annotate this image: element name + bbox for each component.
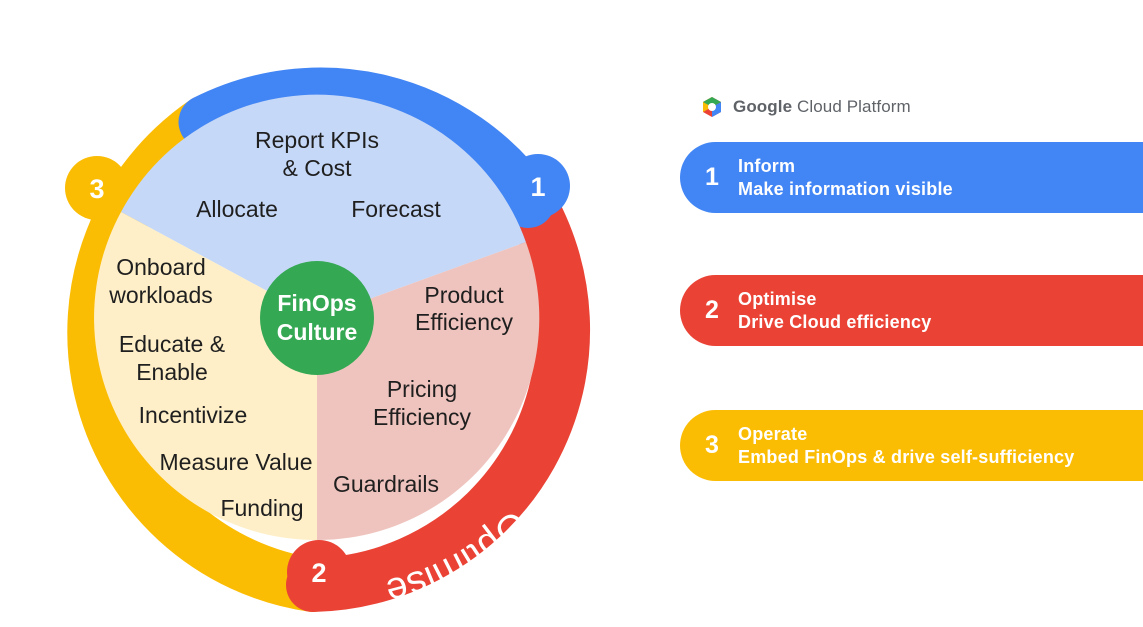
legend-card-3-text: Operate Embed FinOps & drive self-suffic… bbox=[738, 424, 1074, 468]
optimise-item-product-efficiency-line1: Product bbox=[424, 282, 504, 308]
optimise-item-guardrails: Guardrails bbox=[333, 471, 439, 497]
ring-label-inform: Inform bbox=[264, 29, 389, 79]
legend-card-operate[interactable]: 3 Operate Embed FinOps & drive self-suff… bbox=[680, 410, 1143, 481]
legend-card-1-number: 1 bbox=[680, 163, 738, 192]
badge-2[interactable]: 2 bbox=[287, 540, 351, 604]
badge-3-label: 3 bbox=[89, 174, 104, 204]
badge-1[interactable]: 1 bbox=[506, 154, 570, 218]
optimise-item-pricing-efficiency-line2: Efficiency bbox=[373, 404, 472, 430]
legend-card-2-subtitle: Drive Cloud efficiency bbox=[738, 312, 931, 333]
legend-card-inform[interactable]: 1 Inform Make information visible bbox=[680, 142, 1143, 213]
center-label-line2: Culture bbox=[277, 319, 358, 345]
brand-lockup: Google Cloud Platform bbox=[700, 95, 911, 119]
legend-card-3-number: 3 bbox=[680, 431, 738, 460]
legend-card-2-text: Optimise Drive Cloud efficiency bbox=[738, 289, 931, 333]
operate-item-onboard-line1: Onboard bbox=[116, 254, 206, 280]
legend-card-optimise[interactable]: 2 Optimise Drive Cloud efficiency bbox=[680, 275, 1143, 346]
operate-item-funding: Funding bbox=[220, 495, 303, 521]
legend-card-1-title: Inform bbox=[738, 156, 953, 177]
finops-framework-diagram: 1 2 3 Inform Optimise Operate Report KPI… bbox=[0, 0, 1143, 627]
legend-card-2-number: 2 bbox=[680, 296, 738, 325]
center-circle[interactable]: FinOps Culture bbox=[260, 261, 374, 375]
badge-1-label: 1 bbox=[530, 172, 545, 202]
legend-card-3-title: Operate bbox=[738, 424, 1074, 445]
optimise-item-pricing-efficiency-line1: Pricing bbox=[387, 376, 457, 402]
legend-panel: Google Cloud Platform 1 Inform Make info… bbox=[680, 0, 1143, 627]
inform-item-allocate: Allocate bbox=[196, 196, 278, 222]
operate-item-measure-value: Measure Value bbox=[160, 449, 313, 475]
brand-name-cloud-platform: Cloud Platform bbox=[792, 97, 911, 116]
finops-wheel: 1 2 3 Inform Optimise Operate Report KPI… bbox=[0, 0, 620, 627]
legend-card-2-title: Optimise bbox=[738, 289, 931, 310]
optimise-item-product-efficiency-line2: Efficiency bbox=[415, 309, 514, 335]
badge-3[interactable]: 3 bbox=[65, 156, 129, 220]
inform-item-forecast: Forecast bbox=[351, 196, 441, 222]
legend-card-1-subtitle: Make information visible bbox=[738, 179, 953, 200]
brand-name-google: Google bbox=[733, 97, 792, 116]
brand-name: Google Cloud Platform bbox=[733, 97, 911, 117]
center-label-line1: FinOps bbox=[277, 290, 356, 316]
inform-item-report-kpis-line2: & Cost bbox=[282, 155, 352, 181]
operate-item-educate-line1: Educate & bbox=[119, 331, 225, 357]
operate-item-educate-line2: Enable bbox=[136, 359, 208, 385]
legend-card-1-text: Inform Make information visible bbox=[738, 156, 953, 200]
legend-card-3-subtitle: Embed FinOps & drive self-sufficiency bbox=[738, 447, 1074, 468]
operate-item-onboard-line2: workloads bbox=[108, 282, 213, 308]
google-cloud-logo-icon bbox=[700, 95, 724, 119]
operate-item-incentivize: Incentivize bbox=[139, 402, 248, 428]
inform-item-report-kpis-line1: Report KPIs bbox=[255, 127, 379, 153]
badge-2-label: 2 bbox=[311, 558, 326, 588]
